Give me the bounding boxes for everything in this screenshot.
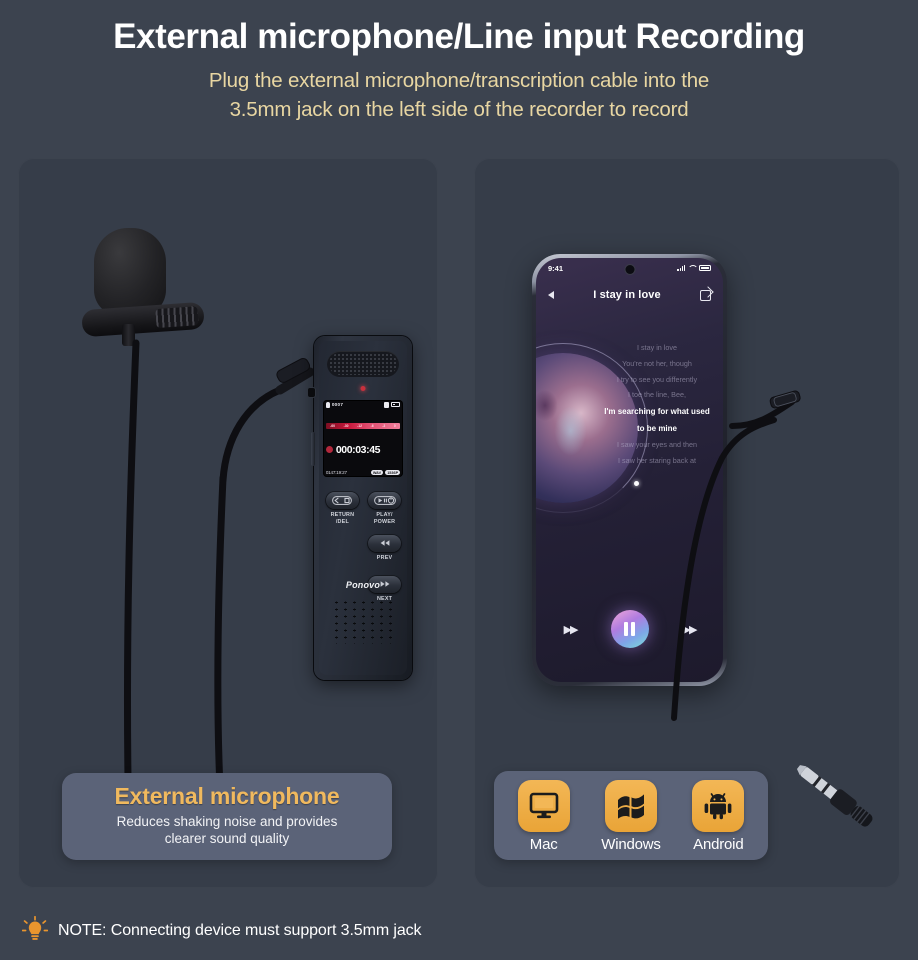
lcd-record-dot — [326, 446, 333, 453]
subtitle-line-2: 3.5mm jack on the left side of the recor… — [0, 95, 918, 125]
lcd-battery-icon — [391, 402, 400, 407]
compatibility-label: Android — [679, 836, 757, 853]
windows-flag-icon — [605, 780, 657, 832]
compatibility-label: Mac — [505, 836, 583, 853]
panels-container: 0007 -60 -30 -12 -6 -3 0 000:03:45 — [18, 158, 900, 888]
recorder-lcd-screen: 0007 -60 -30 -12 -6 -3 0 000:03:45 — [323, 400, 403, 477]
lcd-microphone-icon — [326, 402, 330, 408]
subtitle-line-1: Plug the external microphone/transcripti… — [0, 66, 918, 96]
meter-tick: -12 — [357, 424, 362, 428]
callout-title: External microphone — [76, 783, 378, 810]
compatibility-label: Windows — [592, 836, 670, 853]
meter-tick: -3 — [382, 424, 385, 428]
panel-device-compatibility: 9:41 I stay in love — [474, 158, 900, 888]
voice-recorder-left[interactable]: 0007 -60 -30 -12 -6 -3 0 000:03:45 — [314, 336, 412, 680]
lcd-file-count: 0007 — [332, 402, 343, 407]
lcd-format-tag: WAV — [371, 470, 383, 475]
meter-tick: -30 — [344, 424, 349, 428]
note-text: NOTE: Connecting device must support 3.5… — [58, 922, 421, 940]
lcd-quality-tag: 1536P — [385, 470, 400, 475]
meter-tick: -60 — [330, 424, 335, 428]
lcd-timer: 000:03:45 — [336, 444, 380, 456]
play-power-button[interactable] — [368, 492, 401, 510]
callout-line-2: clearer sound quality — [76, 830, 378, 848]
panel-external-microphone: 0007 -60 -30 -12 -6 -3 0 000:03:45 — [18, 158, 438, 888]
transcription-cable — [474, 158, 900, 858]
recorder-35mm-jack[interactable] — [308, 388, 315, 397]
return-delete-icon — [332, 496, 352, 505]
play-power-label: PLAY/ POWER — [374, 512, 395, 524]
return-delete-label: RETURN /DEL — [331, 512, 355, 524]
meter-tick: 0 — [394, 424, 396, 428]
page-title: External microphone/Line input Recording — [0, 18, 918, 57]
compatibility-item-windows: Windows — [592, 780, 670, 853]
meter-tick: -6 — [371, 424, 374, 428]
android-robot-icon — [692, 780, 744, 832]
lightbulb-icon — [22, 916, 48, 946]
header: External microphone/Line input Recording… — [0, 0, 918, 135]
recorder-brand: Ponovo — [314, 580, 412, 590]
return-delete-button[interactable] — [326, 492, 359, 510]
footer-note: NOTE: Connecting device must support 3.5… — [22, 916, 421, 946]
lcd-remaining-time: 0147:19:27 — [326, 470, 347, 475]
recorder-microphone-grille — [327, 351, 400, 377]
lcd-status-row: 0007 — [326, 402, 400, 408]
compatibility-item-mac: Mac — [505, 780, 583, 853]
lcd-time-row: 000:03:45 — [326, 444, 400, 456]
page-subtitle: Plug the external microphone/transcripti… — [0, 66, 918, 125]
lcd-sd-card-icon — [384, 402, 389, 408]
headphone-jack-plug-icon — [788, 758, 884, 836]
prev-label: PREV — [377, 555, 392, 561]
recording-led-indicator — [361, 386, 366, 391]
compatibility-item-android: Android — [679, 780, 757, 853]
lcd-format-tags: WAV 1536P — [371, 470, 400, 475]
callout-line-1: Reduces shaking noise and provides — [76, 813, 378, 831]
prev-button[interactable] — [368, 535, 401, 552]
recorder-speaker-grille — [332, 599, 395, 644]
play-power-icon — [374, 496, 396, 505]
mac-monitor-icon — [518, 780, 570, 832]
callout-description: Reduces shaking noise and provides clear… — [76, 813, 378, 848]
callout-external-microphone: External microphone Reduces shaking nois… — [62, 773, 392, 860]
rewind-icon — [378, 539, 392, 547]
lcd-level-meter: -60 -30 -12 -6 -3 0 — [326, 423, 400, 429]
recorder-side-button[interactable] — [311, 432, 315, 466]
callout-compatibility: Mac Windows — [494, 771, 768, 860]
lcd-bottom-row: 0147:19:27 WAV 1536P — [326, 470, 400, 475]
